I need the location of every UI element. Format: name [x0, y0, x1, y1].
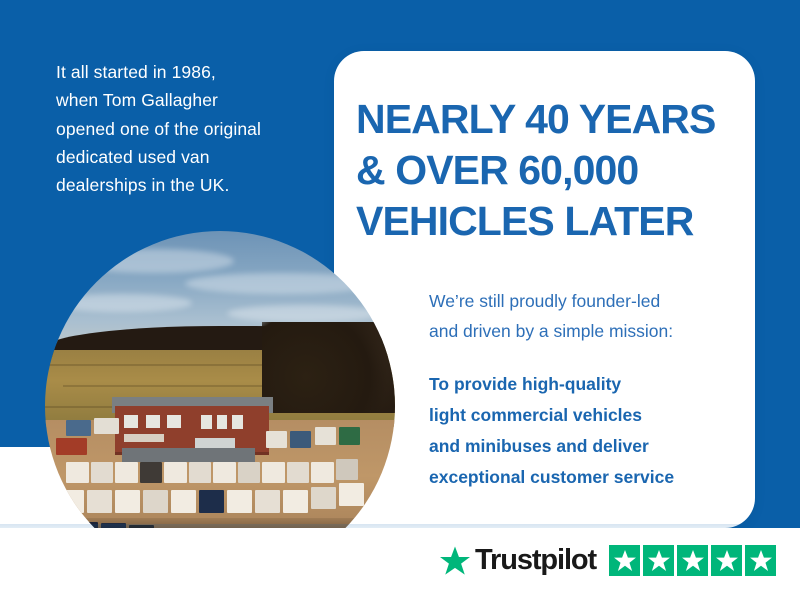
mission-line: exceptional customer service — [429, 462, 729, 493]
star-icon — [716, 550, 738, 571]
photo-van — [238, 462, 261, 483]
photo-van — [311, 487, 336, 510]
trustpilot-rating[interactable]: Trustpilot — [440, 540, 776, 580]
photo-van — [189, 462, 212, 483]
photo-van — [287, 462, 310, 483]
photo-cloud — [227, 305, 381, 323]
photo-van — [213, 462, 236, 483]
photo-van — [66, 420, 91, 436]
star-tile-3[interactable] — [677, 545, 708, 576]
photo-van — [59, 490, 84, 513]
photo-cloud — [73, 249, 234, 274]
photo-canopy — [122, 448, 255, 462]
photo-cloud — [52, 294, 192, 312]
photo-window — [217, 415, 228, 429]
photo-field-line — [45, 364, 290, 366]
photo-van — [290, 431, 311, 449]
star-tile-2[interactable] — [643, 545, 674, 576]
photo-van — [87, 490, 112, 513]
photo-cloud — [185, 273, 378, 294]
photo-van — [199, 490, 224, 513]
star-icon — [648, 550, 670, 571]
intro-paragraph: It all started in 1986, when Tom Gallagh… — [56, 58, 306, 200]
photo-van — [315, 427, 336, 445]
headline-line: NEARLY 40 YEARS — [356, 94, 756, 145]
intro-line: dealerships in the UK. — [56, 171, 306, 199]
photo-van — [164, 462, 187, 483]
photo-van — [115, 490, 140, 513]
intro-line: opened one of the original — [56, 115, 306, 143]
trustpilot-wordmark: Trustpilot — [475, 544, 596, 577]
page-title: NEARLY 40 YEARS & OVER 60,000 VEHICLES L… — [356, 94, 756, 246]
star-rating[interactable] — [609, 545, 776, 576]
intro-line: It all started in 1986, — [56, 58, 306, 86]
mission-statement: To provide high-quality light commercial… — [429, 369, 729, 494]
photo-van — [255, 490, 280, 513]
promo-banner: It all started in 1986, when Tom Gallagh… — [0, 0, 800, 600]
star-tile-4[interactable] — [711, 545, 742, 576]
photo-van — [56, 438, 88, 456]
photo-signage — [124, 434, 164, 442]
photo-van — [262, 462, 285, 483]
photo-van — [143, 490, 168, 513]
photo-window — [195, 438, 235, 448]
intro-line: when Tom Gallagher — [56, 86, 306, 114]
trustpilot-star-icon — [440, 546, 470, 575]
star-tile-1[interactable] — [609, 545, 640, 576]
mission-line: light commercial vehicles — [429, 400, 729, 431]
photo-window — [124, 415, 138, 428]
photo-window — [232, 415, 243, 429]
star-icon — [614, 550, 636, 571]
photo-van — [140, 462, 163, 483]
photo-van — [311, 462, 334, 483]
headline-line: & OVER 60,000 — [356, 145, 756, 196]
photo-van — [336, 459, 359, 480]
photo-van — [91, 462, 114, 483]
photo-van — [66, 462, 89, 483]
photo-van — [227, 490, 252, 513]
photo-van — [94, 418, 119, 434]
subtitle-text: We’re still proudly founder-led and driv… — [429, 286, 729, 346]
photo-window — [146, 415, 160, 428]
subtitle-line: We’re still proudly founder-led — [429, 286, 729, 316]
photo-van — [283, 490, 308, 513]
subtitle-line: and driven by a simple mission: — [429, 316, 729, 346]
intro-line: dedicated used van — [56, 143, 306, 171]
photo-van — [339, 427, 360, 445]
photo-window — [201, 415, 212, 429]
star-icon — [682, 550, 704, 571]
photo-van — [339, 483, 364, 506]
star-icon — [750, 550, 772, 571]
mission-line: To provide high-quality — [429, 369, 729, 400]
mission-line: and minibuses and deliver — [429, 431, 729, 462]
headline-line: VEHICLES LATER — [356, 196, 756, 247]
photo-van — [171, 490, 196, 513]
photo-trees — [262, 322, 395, 413]
photo-window — [167, 415, 181, 428]
trustpilot-logo[interactable]: Trustpilot — [440, 544, 596, 577]
photo-van — [266, 431, 287, 449]
photo-van — [115, 462, 138, 483]
star-tile-5[interactable] — [745, 545, 776, 576]
